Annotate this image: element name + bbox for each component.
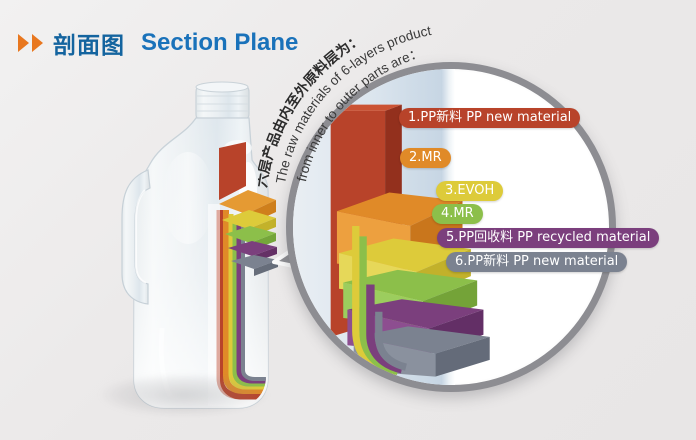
section-plane-diagram: 剖面图 Section Plane xyxy=(0,0,696,440)
layer-label-4[interactable]: 4.MR xyxy=(432,204,483,224)
bottle-illustration xyxy=(88,78,278,418)
product-bottle xyxy=(88,78,278,418)
double-triangle-right-icon xyxy=(18,34,43,52)
layer-label-1[interactable]: 1.PP新料 PP new material xyxy=(399,108,580,128)
layer-label-2[interactable]: 2.MR xyxy=(400,148,451,168)
layer-label-6[interactable]: 6.PP新料 PP new material xyxy=(446,252,627,272)
page-header: 剖面图 Section Plane xyxy=(18,26,298,60)
bottle-shadow xyxy=(100,374,268,416)
layer-label-3[interactable]: 3.EVOH xyxy=(436,181,503,201)
page-title-cn: 剖面图 xyxy=(53,26,125,60)
layer-label-5[interactable]: 5.PP回收料 PP recycled material xyxy=(437,228,659,248)
page-title-en: Section Plane xyxy=(141,29,298,57)
